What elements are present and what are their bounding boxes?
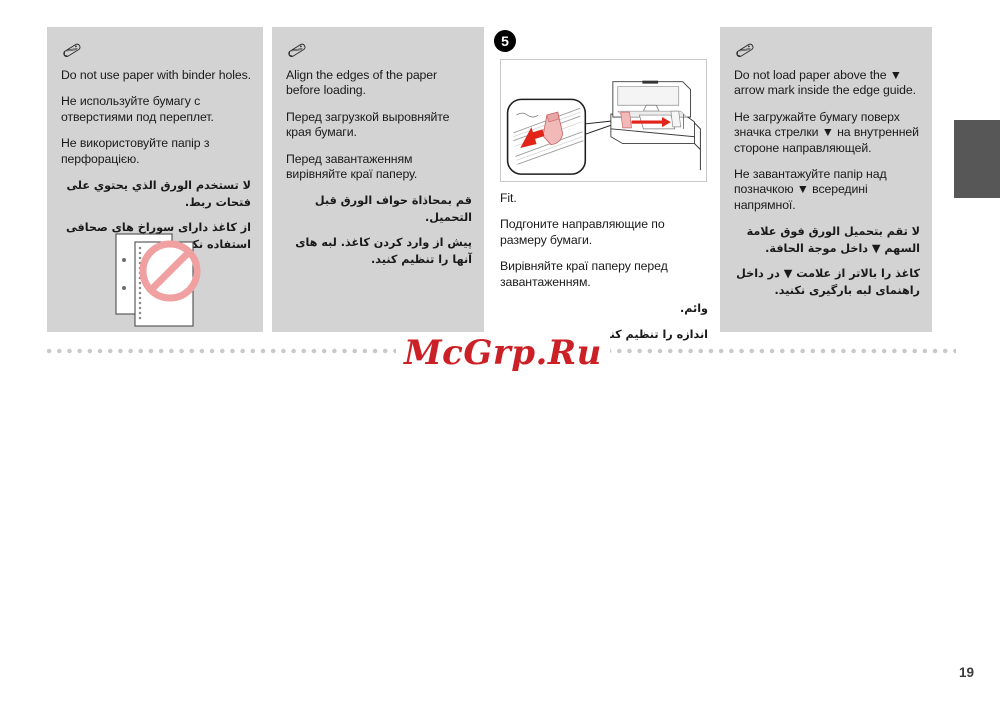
note-text-en: Align the edges of the paper before load… [286, 68, 472, 99]
panel-note-align-edges: Align the edges of the paper before load… [272, 27, 484, 332]
note-text-uk: Перед завантаженням вирівняйте краї папе… [286, 152, 472, 183]
panel-note-arrow-mark: Do not load paper above the ▼ arrow mark… [720, 27, 932, 332]
pencil-note-icon [61, 39, 87, 59]
edge-tab-marker [954, 120, 1000, 198]
step-caption: Fit. Подгоните направляющие по размеру б… [500, 191, 708, 352]
figure-printer-edge-guide-adjust [501, 60, 706, 181]
note-text-ru: Не используйте бумагу с отверстиями под … [61, 94, 251, 125]
dotted-divider-left [44, 348, 396, 354]
step-text-en: Fit. [500, 191, 708, 206]
page-number: 19 [959, 665, 974, 680]
note-text-fa: کاغذ را بالاتر از علامت ▼ در داخل راهنما… [734, 266, 920, 299]
note-text-en: Do not use paper with binder holes. [61, 68, 251, 83]
pencil-note-icon [286, 39, 312, 59]
note-text-ru: Не загружайте бумагу поверх значка стрел… [734, 110, 920, 156]
step-text-ar: وائم. [500, 301, 708, 318]
note-text-ar: قم بمحاذاة حواف الورق قبل التحميل. [286, 193, 472, 226]
note-text-ru: Перед загрузкой выровняйте края бумаги. [286, 110, 472, 141]
dotted-divider-right [604, 348, 956, 354]
step-text-uk: Вирівняйте краї паперу перед завантаженн… [500, 259, 708, 290]
step-number-badge: 5 [494, 30, 516, 52]
step-text-ru: Подгоните направляющие по размеру бумаги… [500, 217, 708, 248]
figure-paper-binder-holes-prohibited [102, 227, 237, 332]
note-text-uk: Не використовуйте папір з перфорацією. [61, 136, 251, 167]
site-watermark: McGrp.Ru [396, 333, 610, 373]
note-text-fa: پیش از وارد کردن کاغذ. لبه های آنها را ت… [286, 235, 472, 268]
panel-note-binder-holes: Do not use paper with binder holes. Не и… [47, 27, 263, 332]
pencil-note-icon [734, 39, 760, 59]
note-text-en: Do not load paper above the ▼ arrow mark… [734, 68, 920, 99]
figure-frame-printer [500, 59, 707, 182]
note-text-ar: لا تستخدم الورق الذي يحتوي على فتحات ربط… [61, 178, 251, 211]
note-text-ar: لا تقم بتحميل الورق فوق علامة السهم ▼ دا… [734, 224, 920, 257]
note-text-uk: Не завантажуйте папір над позначкою ▼ вс… [734, 167, 920, 213]
panel-step-five: 5 [494, 27, 710, 332]
